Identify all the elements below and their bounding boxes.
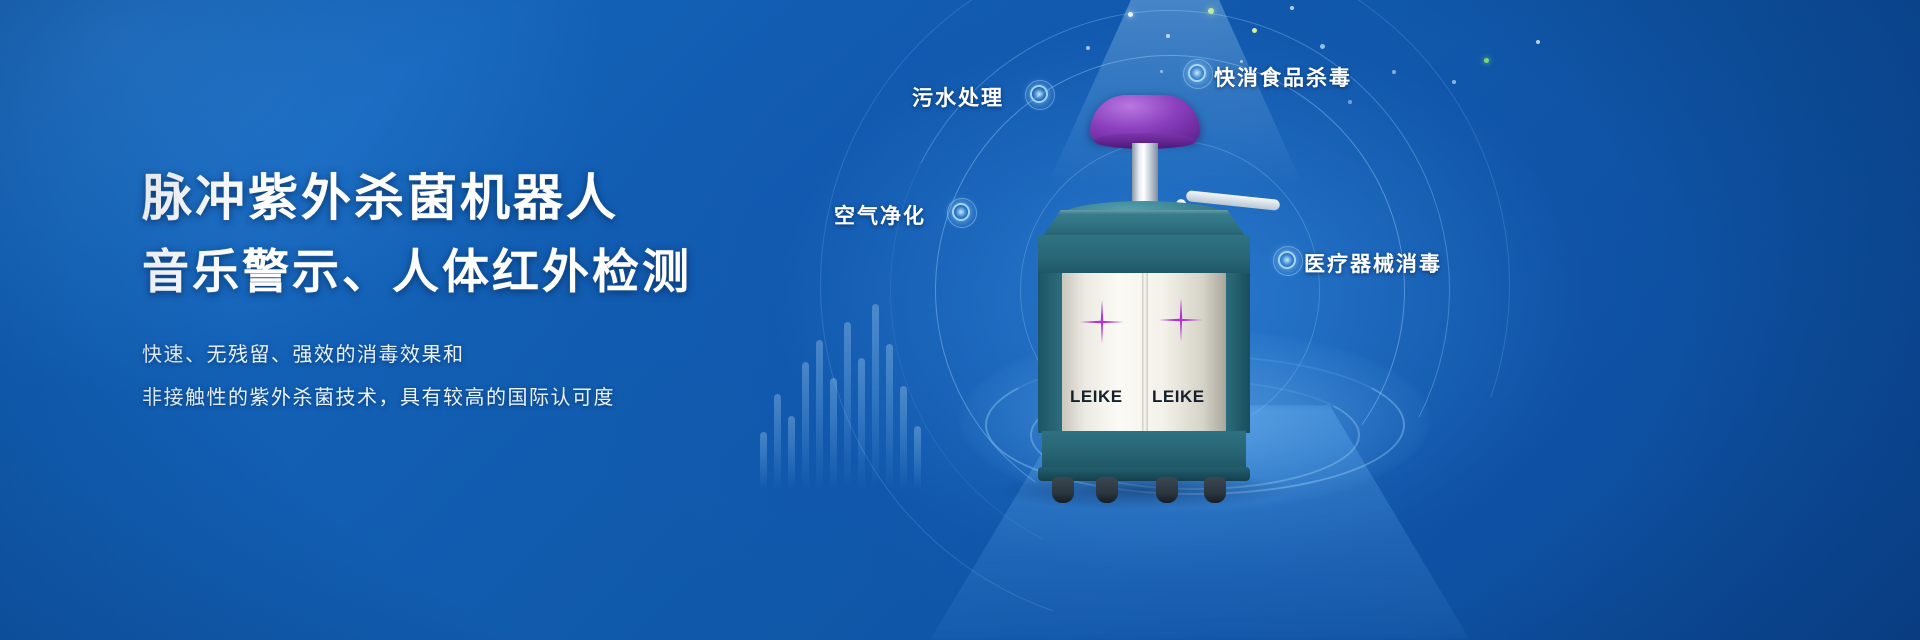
subtitle-line-1: 快速、无残留、强效的消毒效果和 xyxy=(142,334,782,377)
headline-line-2: 音乐警示、人体红外检测 xyxy=(142,236,782,310)
sparkle-particle xyxy=(1536,40,1540,44)
hotspot-medical-device-disinfection[interactable] xyxy=(1278,251,1296,269)
uv-starburst-icon xyxy=(1156,295,1206,345)
sparkle-particle xyxy=(1128,12,1133,17)
decor-equalizer-bars xyxy=(760,300,940,490)
sparkle-particle xyxy=(1452,80,1456,84)
device-brand-right: LEIKE xyxy=(1152,387,1205,407)
label-fmcg-food-sterilization: 快消食品杀毒 xyxy=(1214,62,1352,92)
device-shoulder xyxy=(1038,235,1250,275)
uv-starburst-icon xyxy=(1080,300,1124,344)
label-medical-device-disinfection: 医疗器械消毒 xyxy=(1304,248,1442,278)
sparkle-particle xyxy=(1484,58,1489,63)
sparkle-particle xyxy=(1252,28,1257,33)
device-panel-divider xyxy=(1142,273,1148,433)
sparkle-particle xyxy=(1348,100,1352,104)
uv-robot-illustration: LEIKE LEIKE xyxy=(1028,95,1258,485)
headline-line-1: 脉冲紫外杀菌机器人 xyxy=(142,160,782,236)
hotspot-fmcg-food-sterilization[interactable] xyxy=(1188,64,1206,82)
subtitle-line-2: 非接触性的紫外杀菌技术，具有较高的国际认可度 xyxy=(142,377,782,420)
label-wastewater-treatment: 污水处理 xyxy=(912,82,1004,112)
sparkle-particle xyxy=(1320,44,1325,49)
sparkle-particle xyxy=(1086,46,1090,50)
device-caster-wheel xyxy=(1156,477,1178,503)
device-caster-wheel xyxy=(1052,477,1074,503)
label-air-purification: 空气净化 xyxy=(834,200,926,230)
device-caster-wheel xyxy=(1096,477,1118,503)
sparkle-particle xyxy=(1392,70,1396,74)
device-caster-wheel xyxy=(1204,477,1226,503)
sparkle-particle xyxy=(1166,34,1170,38)
banner-copy: 脉冲紫外杀菌机器人 音乐警示、人体红外检测 快速、无残留、强效的消毒效果和 非接… xyxy=(142,160,782,420)
sparkle-particle xyxy=(1160,70,1163,73)
sparkle-particle xyxy=(1208,8,1214,14)
device-brand-left: LEIKE xyxy=(1070,387,1123,407)
hotspot-wastewater-treatment[interactable] xyxy=(1030,85,1048,103)
sparkle-particle xyxy=(1290,6,1294,10)
hotspot-air-purification[interactable] xyxy=(952,203,970,221)
promo-banner: LEIKE LEIKE 污水处理 快消食品杀毒 空气净化 医疗器械消毒 脉冲紫外… xyxy=(0,0,1920,640)
